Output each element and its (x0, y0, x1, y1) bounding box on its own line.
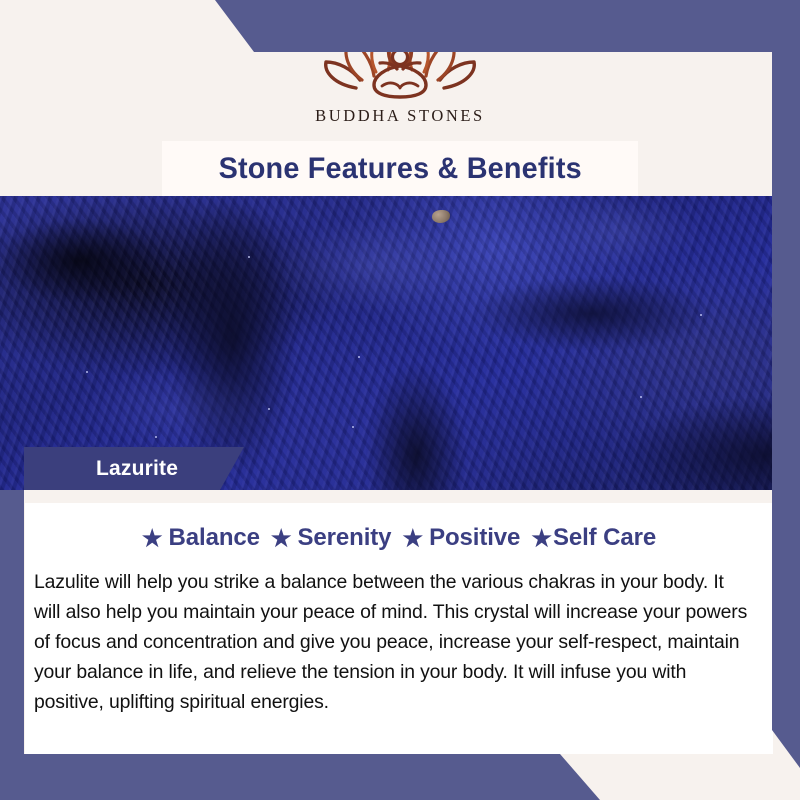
stone-photo (0, 196, 800, 490)
benefit-label: Serenity (298, 524, 392, 552)
benefit-item-balance: ★Balance (142, 524, 260, 552)
stone-description: Lazulite will help you strike a balance … (34, 567, 750, 717)
content-panel: ★Balance★Serenity★Positive★Self Care Laz… (25, 503, 773, 754)
benefits-row: ★Balance★Serenity★Positive★Self Care (25, 524, 773, 552)
stone-benefits-infographic: BUDDHA STONES Stone Features & Benefits … (0, 0, 800, 800)
benefit-item-positive: ★Positive (391, 524, 520, 552)
star-icon: ★ (402, 527, 423, 550)
benefit-item-self-care: ★Self Care (520, 524, 656, 552)
stone-name-chip: Lazurite (24, 447, 244, 490)
benefit-label: Positive (429, 524, 520, 552)
star-icon: ★ (531, 527, 552, 550)
star-icon: ★ (271, 527, 292, 550)
page-title: Stone Features & Benefits (218, 152, 581, 186)
benefit-label: Self Care (553, 524, 656, 552)
page-title-band: Stone Features & Benefits (162, 141, 638, 196)
frame-accent-left (0, 490, 24, 800)
frame-accent-bottom (0, 754, 800, 800)
brand-name: BUDDHA STONES (315, 106, 485, 126)
benefit-label: Balance (169, 524, 260, 552)
benefit-item-serenity: ★Serenity (260, 524, 392, 552)
star-icon: ★ (142, 527, 163, 550)
frame-accent-right (772, 0, 800, 768)
stone-name-label: Lazurite (96, 457, 178, 481)
